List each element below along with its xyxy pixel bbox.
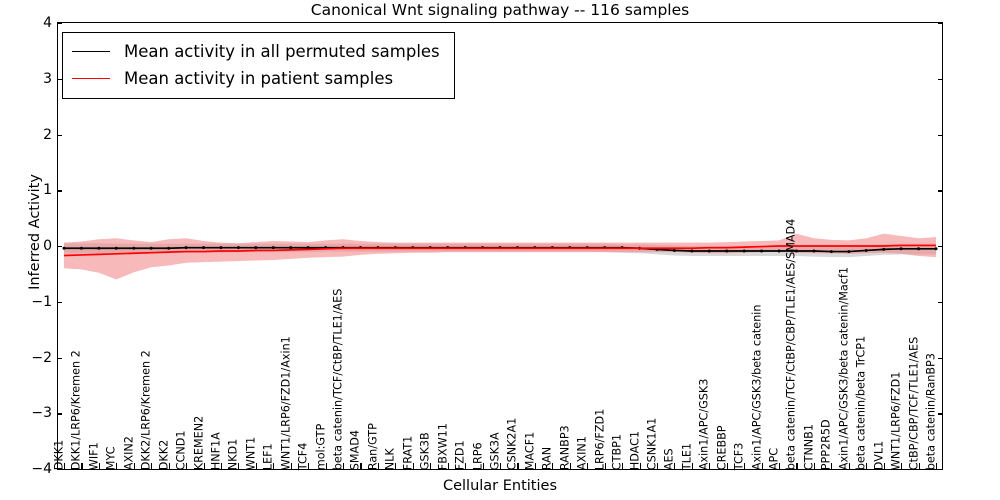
data-point	[900, 247, 903, 250]
x-tick-label: DKK1	[53, 440, 64, 470]
data-point	[167, 247, 170, 250]
x-tick-label: beta catenin/TCF/CtBP/TLE1/AES	[332, 288, 343, 470]
x-tick-label: mol:GTP	[315, 424, 326, 470]
x-tick-label: DVL1	[873, 441, 884, 470]
x-tick-label: KREMEN2	[193, 416, 204, 470]
x-tick-label: DKK2/LRP6/Kremen 2	[141, 350, 152, 470]
y-tick-mark	[938, 302, 943, 303]
data-point	[865, 249, 868, 252]
x-tick-label: CSNK2A1	[507, 417, 518, 470]
y-tick-mark	[938, 246, 943, 247]
y-tick-mark	[938, 135, 943, 136]
legend: Mean activity in all permuted samplesMea…	[62, 32, 455, 99]
data-point	[202, 246, 205, 249]
x-tick-label: LEF1	[263, 443, 274, 470]
x-tick-label: SMAD4	[350, 430, 361, 470]
data-point	[935, 247, 938, 250]
x-tick-label: WNT1	[245, 437, 256, 470]
page-title: Canonical Wnt signaling pathway -- 116 s…	[57, 1, 943, 19]
y-tick-label: 1	[12, 182, 52, 198]
data-point	[132, 247, 135, 250]
x-tick-label: NLK	[385, 448, 396, 470]
y-tick-label: −4	[12, 461, 52, 477]
y-tick-label: 3	[12, 71, 52, 87]
legend-line-icon	[72, 78, 110, 79]
data-point	[115, 247, 118, 250]
x-tick-label: CREBBP	[716, 425, 727, 470]
x-axis-label: Cellular Entities	[57, 478, 943, 494]
data-point	[690, 250, 693, 253]
x-tick-label: CSNK1A1	[646, 417, 657, 470]
x-tick-label: GSK3B	[420, 432, 431, 470]
x-tick-label: APC	[768, 448, 779, 470]
data-point	[708, 250, 711, 253]
y-tick-label: −1	[12, 294, 52, 310]
data-point	[778, 250, 781, 253]
x-tick-label: MYC	[106, 446, 117, 470]
y-tick-mark	[938, 79, 943, 80]
x-tick-label: DKK2	[158, 440, 169, 470]
x-tick-label: Axin1/APC/GSK3/beta catenin	[751, 304, 762, 470]
y-tick-mark	[57, 23, 62, 24]
legend-item: Mean activity in patient samples	[72, 65, 440, 92]
x-tick-label: CtBP/CBP/TCF/TLE1/AES	[908, 337, 919, 470]
x-tick-label: AXIN2	[123, 436, 134, 470]
x-tick-label: TLE1	[681, 443, 692, 470]
y-tick-mark	[938, 23, 943, 24]
x-tick-label: PPP2R5D	[821, 419, 832, 470]
y-tick-mark	[57, 302, 62, 303]
data-point	[673, 249, 676, 252]
legend-item: Mean activity in all permuted samples	[72, 38, 440, 65]
x-tick-label: beta catenin/beta TrCP1	[856, 336, 867, 470]
x-tick-label: WNT1/LRP6/FZD1	[891, 371, 902, 470]
data-point	[63, 247, 66, 250]
x-tick-label: beta catenin/TCF/CtBP/CBP/TLE1/AES/SMAD4	[786, 219, 797, 470]
y-tick-mark	[938, 358, 943, 359]
y-tick-mark	[57, 246, 62, 247]
data-point	[254, 246, 257, 249]
x-tick-label: AXIN1	[577, 436, 588, 470]
x-tick-label: Axin1/APC/GSK3	[699, 378, 710, 470]
y-tick-label: 0	[12, 238, 52, 254]
y-tick-label: −2	[12, 350, 52, 366]
x-tick-label: GSK3A	[489, 432, 500, 470]
y-tick-mark	[57, 358, 62, 359]
x-tick-label: FRAT1	[402, 436, 413, 471]
y-tick-mark	[938, 469, 943, 470]
x-tick-label: TCF4	[298, 442, 309, 470]
x-tick-label: CCND1	[175, 430, 186, 470]
x-tick-label: FZD1	[455, 440, 466, 470]
x-tick-label: Axin1/APC/GSK3/beta catenin/Macf1	[838, 267, 849, 470]
x-tick-label: HDAC1	[629, 431, 640, 470]
data-point	[743, 250, 746, 253]
x-tick-label: MACF1	[524, 432, 535, 470]
x-tick-label: CTBP1	[611, 434, 622, 470]
x-tick-label: LRP6/FZD1	[594, 409, 605, 470]
data-point	[150, 247, 153, 250]
x-tick-label: HNF1A	[210, 432, 221, 470]
confidence-band	[64, 234, 936, 280]
legend-label: Mean activity in all permuted samples	[124, 42, 440, 61]
y-tick-label: 2	[12, 127, 52, 143]
data-point	[847, 250, 850, 253]
data-point	[237, 246, 240, 249]
y-tick-label: 4	[12, 15, 52, 31]
x-tick-label: CTNNB1	[803, 424, 814, 470]
y-tick-mark	[938, 190, 943, 191]
data-point	[185, 246, 188, 249]
y-tick-mark	[938, 413, 943, 414]
x-tick-label: RANBP3	[559, 425, 570, 470]
x-tick-label: WNT1/LRP6/FZD1/Axin1	[280, 336, 291, 470]
y-tick-label: −3	[12, 405, 52, 421]
legend-label: Mean activity in patient samples	[124, 69, 393, 88]
data-point	[219, 246, 222, 249]
data-point	[97, 247, 100, 250]
data-point	[289, 246, 292, 249]
data-point	[882, 248, 885, 251]
x-tick-label: RAN	[542, 447, 553, 470]
y-tick-mark	[57, 413, 62, 414]
data-point	[272, 246, 275, 249]
x-tick-label: LRP6	[472, 442, 483, 470]
data-point	[812, 250, 815, 253]
y-tick-mark	[57, 190, 62, 191]
x-tick-label: FBXW11	[437, 423, 448, 470]
data-point	[80, 247, 83, 250]
x-tick-label: WIF1	[88, 442, 99, 470]
legend-line-icon	[72, 51, 110, 52]
x-tick-label: DKK1/LRP6/Kremen 2	[71, 350, 82, 470]
data-point	[725, 250, 728, 253]
x-tick-label: NKD1	[228, 439, 239, 470]
x-tick-label: beta catenin/RanBP3	[925, 353, 936, 470]
chart-figure: Canonical Wnt signaling pathway -- 116 s…	[0, 0, 1000, 500]
data-point	[830, 250, 833, 253]
x-tick-label: Ran/GTP	[367, 423, 378, 470]
data-point	[917, 247, 920, 250]
y-tick-mark	[57, 135, 62, 136]
x-tick-label: AES	[664, 448, 675, 470]
x-tick-label: TCF3	[734, 442, 745, 470]
data-point	[760, 250, 763, 253]
